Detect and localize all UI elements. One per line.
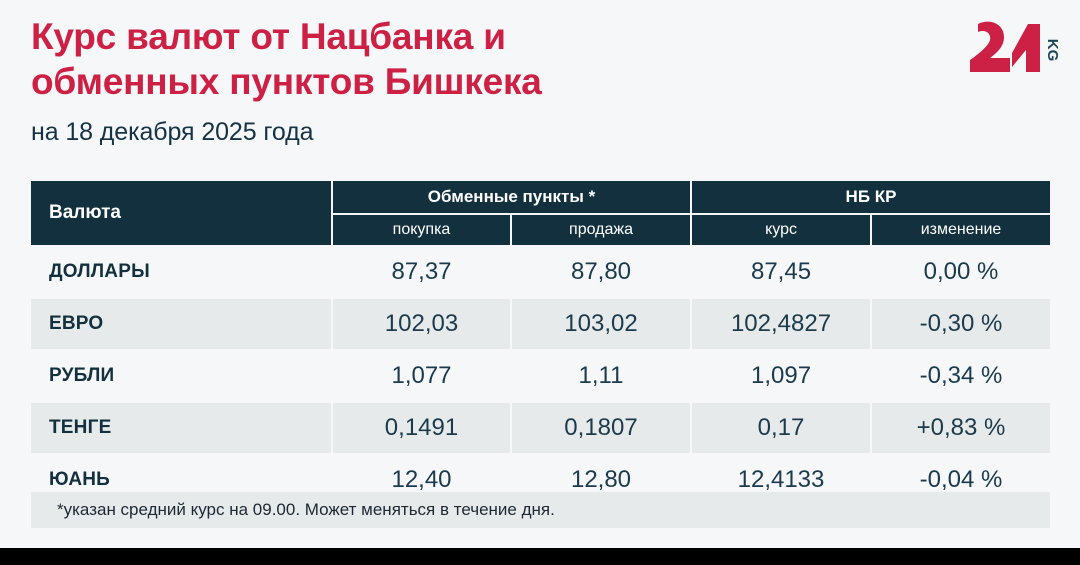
24kg-logo: KG — [966, 20, 1058, 82]
bottom-bar — [0, 548, 1080, 565]
page-title: Курс валют от Нацбанка и обменных пункто… — [31, 14, 731, 104]
cell-sell: 1,11 — [510, 349, 690, 401]
cell-rate: 0,17 — [690, 401, 870, 453]
column-header-sell: продажа — [510, 213, 690, 245]
header-block: Курс валют от Нацбанка и обменных пункто… — [31, 14, 1050, 164]
svg-text:KG: KG — [1044, 39, 1058, 62]
infographic-page: Курс валют от Нацбанка и обменных пункто… — [0, 0, 1080, 565]
table-row: ДОЛЛАРЫ 87,37 87,80 87,45 0,00 % — [31, 245, 1050, 297]
cell-sell: 103,02 — [510, 297, 690, 349]
column-header-buy: покупка — [331, 213, 510, 245]
cell-buy: 87,37 — [331, 245, 510, 297]
column-header-rate: курс — [690, 213, 870, 245]
cell-rate: 102,4827 — [690, 297, 870, 349]
table-row: ЕВРО 102,03 103,02 102,4827 -0,30 % — [31, 297, 1050, 349]
table-header: Валюта Обменные пункты * НБ КР покупка п… — [31, 181, 1050, 245]
table-row: РУБЛИ 1,077 1,11 1,097 -0,34 % — [31, 349, 1050, 401]
column-header-change: изменение — [870, 213, 1050, 245]
cell-buy: 1,077 — [331, 349, 510, 401]
page-subtitle: на 18 декабря 2025 года — [31, 118, 1050, 147]
cell-rate: 1,097 — [690, 349, 870, 401]
cell-rate: 87,45 — [690, 245, 870, 297]
column-group-header-national-bank: НБ КР — [690, 181, 1050, 213]
cell-sell: 87,80 — [510, 245, 690, 297]
cell-buy: 0,1491 — [331, 401, 510, 453]
cell-change: +0,83 % — [870, 401, 1050, 453]
cell-buy: 102,03 — [331, 297, 510, 349]
cell-change: 0,00 % — [870, 245, 1050, 297]
table-group-header-row: Валюта Обменные пункты * НБ КР — [31, 181, 1050, 213]
cell-currency: ТЕНГЕ — [31, 401, 331, 453]
cell-currency: ДОЛЛАРЫ — [31, 245, 331, 297]
column-header-currency: Валюта — [31, 181, 331, 245]
table-row: ТЕНГЕ 0,1491 0,1807 0,17 +0,83 % — [31, 401, 1050, 453]
column-group-header-exchange-points: Обменные пункты * — [331, 181, 690, 213]
cell-currency: РУБЛИ — [31, 349, 331, 401]
cell-change: -0,30 % — [870, 297, 1050, 349]
cell-currency: ЕВРО — [31, 297, 331, 349]
cell-change: -0,34 % — [870, 349, 1050, 401]
table-footnote: *указан средний курс на 09.00. Может мен… — [31, 492, 1050, 528]
cell-sell: 0,1807 — [510, 401, 690, 453]
currency-rates-table: Валюта Обменные пункты * НБ КР покупка п… — [31, 181, 1050, 505]
table-body: ДОЛЛАРЫ 87,37 87,80 87,45 0,00 % ЕВРО 10… — [31, 245, 1050, 505]
